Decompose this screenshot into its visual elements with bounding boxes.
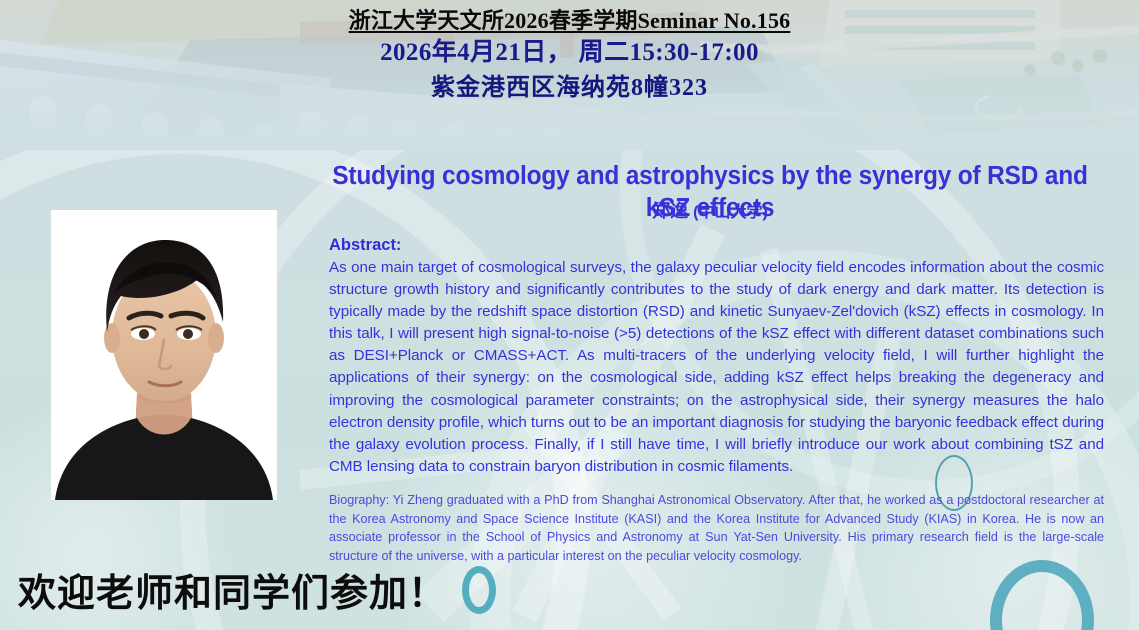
poster-header: 浙江大学天文所2026春季学期Seminar No.156 2026年4月21日… bbox=[0, 6, 1139, 106]
seminar-poster: 浙江大学天文所2026春季学期Seminar No.156 2026年4月21日… bbox=[0, 0, 1139, 630]
seminar-series-line: 浙江大学天文所2026春季学期Seminar No.156 bbox=[0, 6, 1139, 36]
decorative-ring-icon bbox=[462, 566, 496, 614]
portrait-illustration bbox=[51, 210, 277, 500]
seminar-venue-line: 紫金港西区海纳苑8幢323 bbox=[0, 70, 1139, 106]
speaker-portrait-photo bbox=[51, 210, 277, 500]
abstract-label: Abstract: bbox=[329, 234, 1104, 256]
decorative-ring-icon bbox=[990, 560, 1094, 630]
speaker-affiliation: (中山大学) bbox=[693, 204, 768, 221]
abstract-text: As one main target of cosmological surve… bbox=[329, 257, 1104, 478]
seminar-datetime-line: 2026年4月21日， 周二15:30-17:00 bbox=[0, 36, 1139, 70]
speaker-name: 郑逸 bbox=[652, 201, 688, 221]
abstract-section: Abstract: As one main target of cosmolog… bbox=[329, 234, 1104, 478]
welcome-message: 欢迎老师和同学们参加！ bbox=[18, 569, 447, 617]
biography-text: Biography: Yi Zheng graduated with a PhD… bbox=[329, 491, 1104, 565]
biography-section: Biography: Yi Zheng graduated with a PhD… bbox=[329, 491, 1104, 565]
speaker-line: 郑逸 (中山大学) bbox=[300, 198, 1120, 226]
